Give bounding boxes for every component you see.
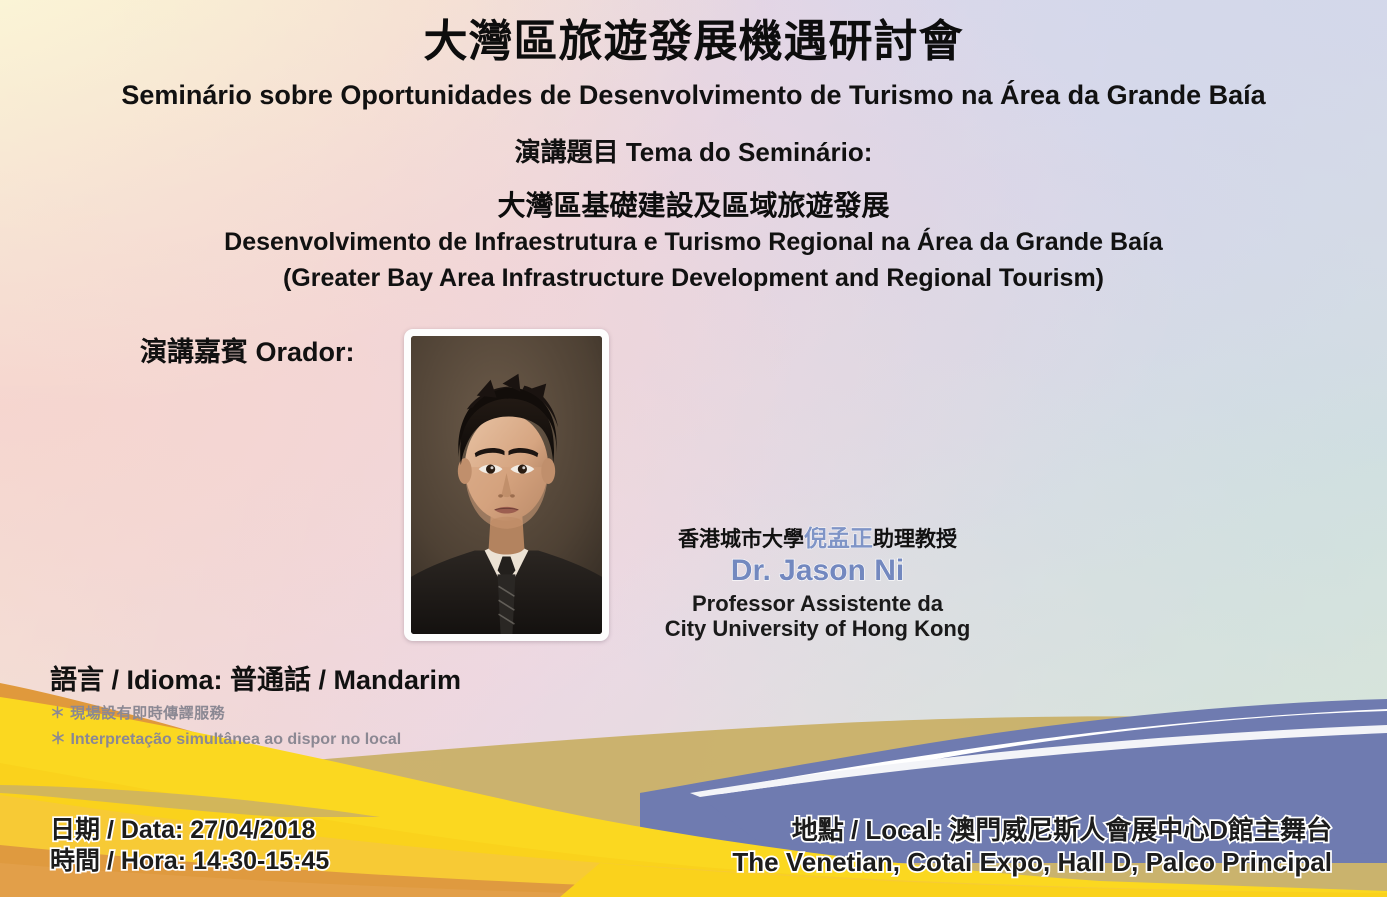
footer-venue-cn: 地點 / Local: 澳門威尼斯人會展中心D館主舞台 xyxy=(732,815,1332,847)
speaker-affiliation-cn: 香港城市大學 xyxy=(678,528,804,551)
language-note-cn: ＊ 現場設有即時傳譯服務 xyxy=(50,702,461,723)
speaker-role-pt: Professor Assistente da xyxy=(645,591,990,616)
orador-label: 演講嘉賓 Orador: xyxy=(140,330,355,369)
speaker-rank-cn: 助理教授 xyxy=(873,528,957,551)
speaker-details: 香港城市大學倪孟正助理教授 Dr. Jason Ni Professor Ass… xyxy=(645,525,990,641)
footer-venue-block: 地點 / Local: 澳門威尼斯人會展中心D館主舞台 The Venetian… xyxy=(732,815,1332,878)
footer-time: 時間 / Hora: 14:30-15:45 xyxy=(50,846,329,877)
footer-datetime-block: 日期 / Data: 27/04/2018 時間 / Hora: 14:30-1… xyxy=(50,815,329,876)
topic-title-en: (Greater Bay Area Infrastructure Develop… xyxy=(0,261,1387,297)
language-main-line: 語言 / Idioma: 普通話 / Mandarim xyxy=(50,658,461,697)
footer-venue-pt: The Venetian, Cotai Expo, Hall D, Palco … xyxy=(732,847,1332,879)
page-title-cn: 大灣區旅遊發展機遇研討會 xyxy=(0,18,1387,66)
page-title-pt: Seminário sobre Oportunidades de Desenvo… xyxy=(0,80,1387,111)
speaker-name-en: Dr. Jason Ni xyxy=(645,554,990,589)
speaker-photo-frame xyxy=(404,329,609,641)
topic-title-cn: 大灣區基礎建設及區域旅遊發展 xyxy=(0,190,1387,222)
speaker-organisation: City University of Hong Kong xyxy=(645,616,990,641)
seminar-poster: 大灣區旅遊發展機遇研討會 Seminário sobre Oportunidad… xyxy=(0,0,1387,897)
topic-block-pt: Desenvolvimento de Infraestrutura e Turi… xyxy=(0,225,1387,296)
topic-title-pt: Desenvolvimento de Infraestrutura e Turi… xyxy=(0,225,1387,261)
speaker-name-cn: 倪孟正 xyxy=(804,525,873,551)
language-block: 語言 / Idioma: 普通話 / Mandarim ＊ 現場設有即時傳譯服務… xyxy=(50,658,461,749)
speaker-portrait-image xyxy=(411,336,602,634)
language-note-pt: ＊ Interpretação simultânea ao dispor no … xyxy=(50,725,461,749)
tema-label: 演講題目 Tema do Seminário: xyxy=(0,132,1387,169)
footer-date: 日期 / Data: 27/04/2018 xyxy=(50,815,329,846)
speaker-affiliation-line: 香港城市大學倪孟正助理教授 xyxy=(645,525,990,552)
